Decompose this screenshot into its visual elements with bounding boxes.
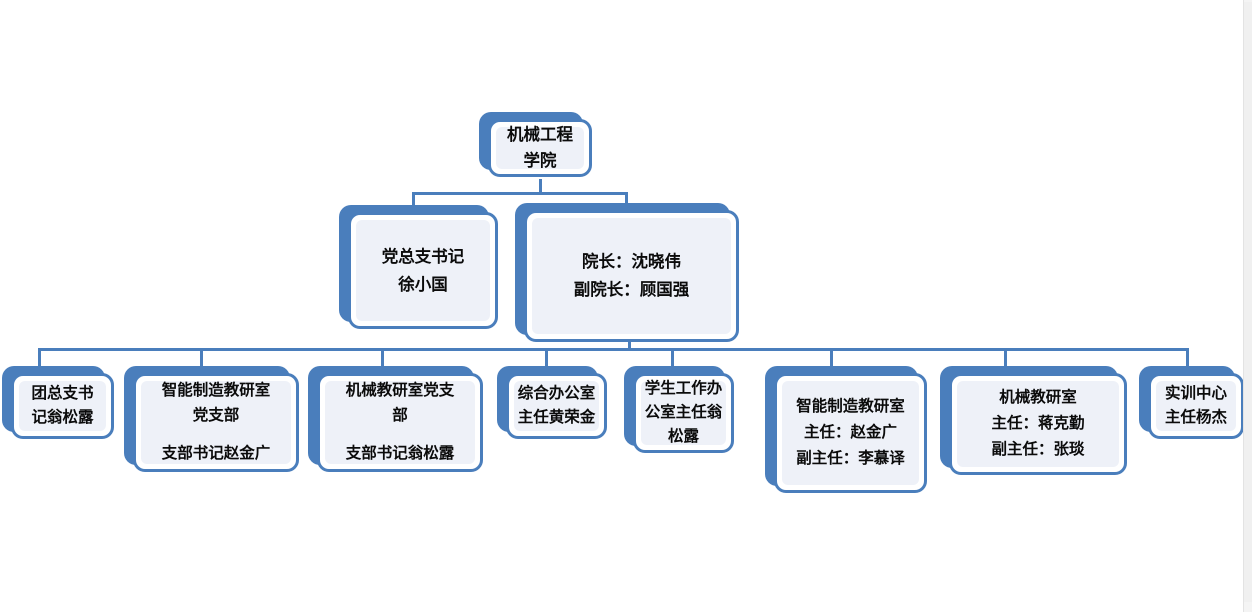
node-inner: 院长：沈晓伟 副院长：顾国强 <box>532 218 731 334</box>
connector-level3-drop-6 <box>830 348 833 366</box>
node-inner: 党总支书记 徐小国 <box>356 220 490 321</box>
node-text-line: 主任：赵金广 <box>804 421 897 445</box>
node-inner: 智能制造教研室 党支部 支部书记赵金广 <box>141 381 291 464</box>
node-text-line: 主任：蒋克勤 <box>991 412 1084 436</box>
node-text-line: 副主任：张琰 <box>991 438 1084 462</box>
node-face: 团总支书 记翁松露 <box>11 373 114 439</box>
connector-level3-drop-1 <box>38 348 41 366</box>
node-face: 党总支书记 徐小国 <box>348 212 498 329</box>
node-face: 机械教研室 主任：蒋克勤 副主任：张琰 <box>949 373 1127 475</box>
node-root[interactable]: 机械工程 学院 <box>479 112 583 170</box>
scrollbar-track[interactable] <box>1243 0 1252 612</box>
node-text-line: 学院 <box>524 148 557 174</box>
node-inner: 机械工程 学院 <box>496 127 584 169</box>
connector-level3-drop-2 <box>200 348 203 366</box>
node-face: 学生工作办 公室主任翁 松露 <box>633 373 734 453</box>
node-text-line: 支部书记赵金广 <box>162 442 271 466</box>
node-text-line: 主任黄荣金 <box>518 406 596 430</box>
node-text-line: 记翁松露 <box>31 406 93 430</box>
node-text-line: 松露 <box>668 425 699 449</box>
node-text-line: 实训中心 <box>1165 382 1227 406</box>
node-face: 智能制造教研室 党支部 支部书记赵金广 <box>133 373 299 472</box>
node-face: 机械工程 学院 <box>488 119 592 177</box>
connector-level3-drop-8 <box>1186 348 1189 366</box>
node-mechanical-party-branch[interactable]: 机械教研室党支 部 支部书记翁松露 <box>308 366 474 465</box>
connector-level3-drop-7 <box>1004 348 1007 366</box>
node-text-line: 学生工作办 <box>645 377 723 401</box>
node-text-line: 党支部 <box>193 404 240 428</box>
node-inner: 智能制造教研室 主任：赵金广 副主任：李慕译 <box>782 381 919 485</box>
node-smart-manufacturing-party-branch[interactable]: 智能制造教研室 党支部 支部书记赵金广 <box>124 366 290 465</box>
node-face: 机械教研室党支 部 支部书记翁松露 <box>317 373 483 472</box>
node-text-line: 机械教研室 <box>999 386 1077 410</box>
node-smart-manufacturing-teaching-room[interactable]: 智能制造教研室 主任：赵金广 副主任：李慕译 <box>765 366 918 486</box>
node-inner: 实训中心 主任杨杰 <box>1156 381 1236 431</box>
node-inner: 机械教研室 主任：蒋克勤 副主任：张琰 <box>957 381 1119 467</box>
node-face: 院长：沈晓伟 副院长：顾国强 <box>524 210 739 342</box>
org-chart-canvas: 机械工程 学院 党总支书记 徐小国 院长：沈晓伟 副院长：顾国强 团总 <box>0 0 1252 612</box>
node-text-line: 院长：沈晓伟 <box>582 249 681 275</box>
scrollbar-thumb[interactable] <box>1244 2 1252 602</box>
node-dean-office[interactable]: 院长：沈晓伟 副院长：顾国强 <box>515 203 730 335</box>
node-face: 智能制造教研室 主任：赵金广 副主任：李慕译 <box>774 373 927 493</box>
connector-level3-drop-5 <box>671 348 674 366</box>
node-text-line: 部 <box>392 404 408 428</box>
node-text-line: 团总支书 <box>31 382 93 406</box>
node-text-line: 支部书记翁松露 <box>346 442 455 466</box>
connector-level2-bar <box>412 192 628 195</box>
node-text-line: 机械工程 <box>507 122 573 148</box>
node-party-secretary[interactable]: 党总支书记 徐小国 <box>339 205 489 322</box>
node-face: 综合办公室 主任黄荣金 <box>506 373 607 439</box>
node-youth-league-branch[interactable]: 团总支书 记翁松露 <box>2 366 105 432</box>
node-text-line: 党总支书记 <box>382 244 465 270</box>
node-text-line: 机械教研室党支 <box>346 379 455 403</box>
connector-level3-drop-3 <box>381 348 384 366</box>
node-general-office[interactable]: 综合办公室 主任黄荣金 <box>497 366 598 432</box>
node-text-line: 综合办公室 <box>518 382 596 406</box>
node-text-line: 副院长：顾国强 <box>574 277 690 303</box>
connector-level3-bar <box>38 348 1188 351</box>
node-text-line: 副主任：李慕译 <box>796 447 905 471</box>
node-face: 实训中心 主任杨杰 <box>1148 373 1244 439</box>
node-text-line: 智能制造教研室 <box>796 395 905 419</box>
node-text-line: 公室主任翁 <box>645 401 723 425</box>
node-inner: 综合办公室 主任黄荣金 <box>514 381 599 431</box>
node-inner: 学生工作办 公室主任翁 松露 <box>641 381 726 445</box>
node-text-line: 智能制造教研室 <box>162 379 271 403</box>
node-inner: 团总支书 记翁松露 <box>19 381 106 431</box>
connector-level3-drop-4 <box>545 348 548 366</box>
node-student-affairs-office[interactable]: 学生工作办 公室主任翁 松露 <box>624 366 725 446</box>
node-text-line: 主任杨杰 <box>1165 406 1227 430</box>
node-text-line: 徐小国 <box>398 272 448 298</box>
node-training-center[interactable]: 实训中心 主任杨杰 <box>1139 366 1235 432</box>
node-mechanical-teaching-room[interactable]: 机械教研室 主任：蒋克勤 副主任：张琰 <box>940 366 1118 468</box>
node-inner: 机械教研室党支 部 支部书记翁松露 <box>325 381 475 464</box>
